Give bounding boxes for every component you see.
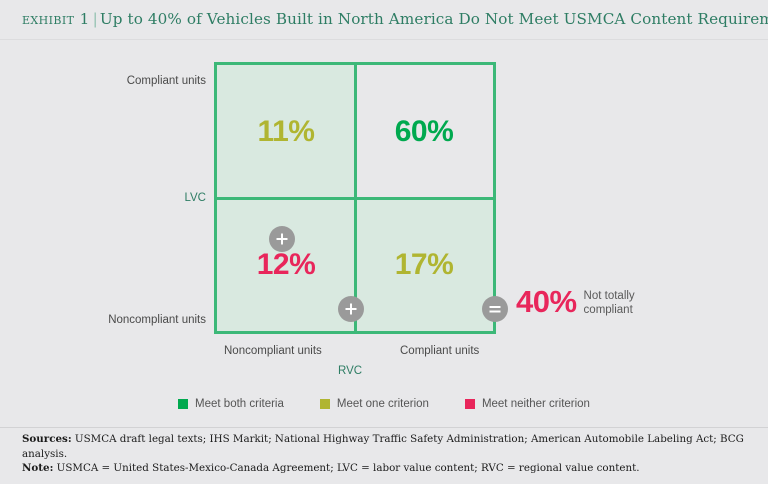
quadrant-value-bottom-right: 17% — [395, 250, 454, 280]
y-axis-label-top: Compliant units — [127, 75, 206, 87]
quadrant-bottom-right[interactable]: 17% — [355, 198, 493, 331]
plus-icon — [338, 296, 364, 322]
sources-line: Sources: USMCA draft legal texts; IHS Ma… — [22, 432, 746, 461]
legend: Meet both criteria Meet one criterion Me… — [0, 398, 768, 410]
footer-divider — [0, 427, 768, 428]
matrix-frame: 11% 60% 12% 17% — [214, 62, 496, 334]
quadrant-top-left[interactable]: 11% — [217, 65, 355, 198]
y-axis-title: LVC — [184, 192, 206, 204]
quadrant-value-top-left: 11% — [258, 117, 315, 147]
equals-icon — [482, 296, 508, 322]
legend-label: Meet neither criterion — [482, 398, 590, 410]
callout-value: 40% — [516, 286, 577, 317]
note-text: USMCA = United States-Mexico-Canada Agre… — [57, 462, 640, 474]
quadrant-value-top-right: 60% — [395, 117, 454, 147]
page-title: Exhibit 1|Up to 40% of Vehicles Built in… — [22, 10, 754, 29]
legend-item-one[interactable]: Meet one criterion — [320, 398, 429, 410]
legend-item-both[interactable]: Meet both criteria — [178, 398, 284, 410]
plus-icon — [269, 226, 295, 252]
matrix-chart: Compliant units LVC Noncompliant units N… — [0, 40, 768, 415]
callout-caption: Not totally compliant — [584, 289, 635, 317]
note-label: Note: — [22, 462, 53, 474]
x-axis-title: RVC — [338, 365, 362, 377]
quadrant-value-bottom-left: 12% — [257, 250, 316, 280]
legend-swatch-icon — [465, 399, 475, 409]
footer-notes: Sources: USMCA draft legal texts; IHS Ma… — [22, 432, 746, 476]
title-separator: | — [90, 10, 100, 28]
quadrant-bottom-left[interactable]: 12% — [217, 198, 355, 331]
legend-item-neither[interactable]: Meet neither criterion — [465, 398, 590, 410]
y-axis-label-bottom: Noncompliant units — [108, 314, 206, 326]
x-axis-label-left: Noncompliant units — [224, 345, 322, 357]
legend-swatch-icon — [178, 399, 188, 409]
matrix-horizontal-divider — [217, 197, 493, 200]
title-bar: Exhibit 1|Up to 40% of Vehicles Built in… — [0, 0, 768, 39]
legend-label: Meet one criterion — [337, 398, 429, 410]
exhibit-number: Exhibit 1 — [22, 10, 90, 28]
quadrant-top-right[interactable]: 60% — [355, 65, 493, 198]
legend-label: Meet both criteria — [195, 398, 284, 410]
note-line: Note: USMCA = United States-Mexico-Canad… — [22, 461, 746, 476]
sources-text: USMCA draft legal texts; IHS Markit; Nat… — [22, 433, 744, 460]
title-text: Up to 40% of Vehicles Built in North Ame… — [100, 10, 768, 28]
x-axis-label-right: Compliant units — [400, 345, 479, 357]
result-callout: 40% Not totally compliant — [516, 286, 635, 317]
legend-swatch-icon — [320, 399, 330, 409]
sources-label: Sources: — [22, 433, 72, 445]
